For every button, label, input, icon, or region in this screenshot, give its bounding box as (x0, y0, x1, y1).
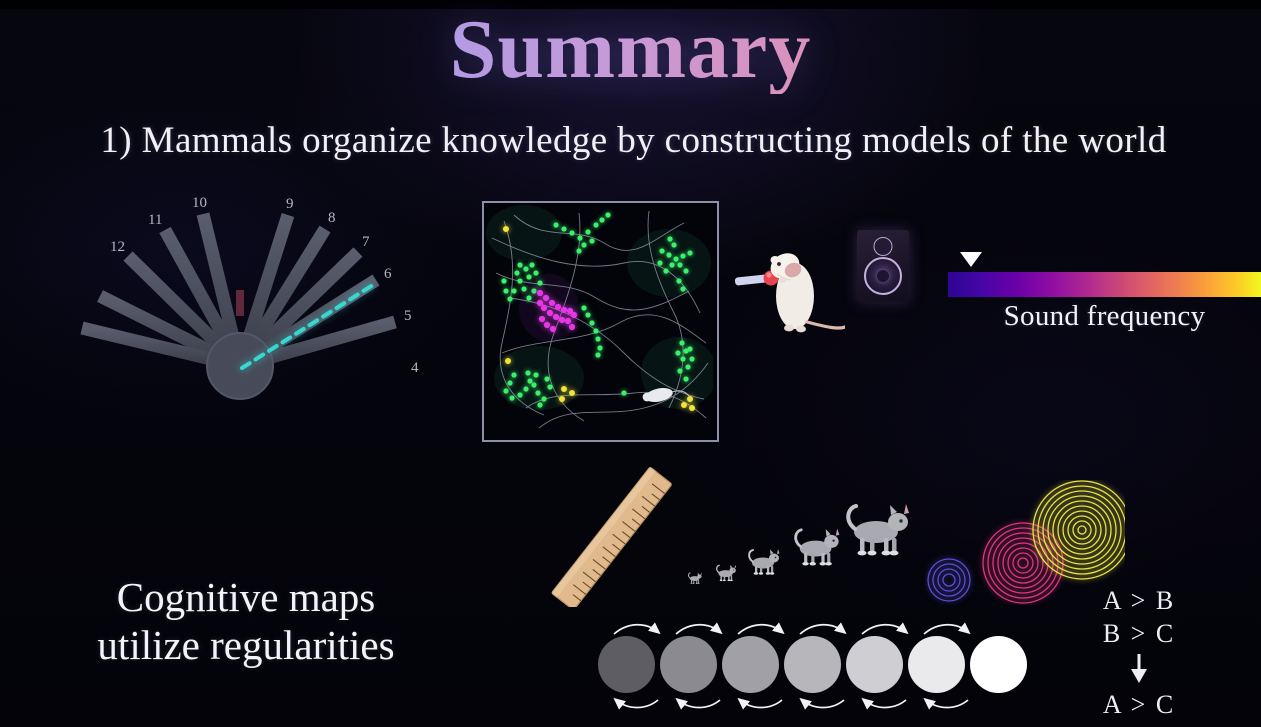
forward-arrows (614, 625, 968, 634)
speaker-icon (857, 230, 909, 302)
premise-2: B > C (1074, 617, 1204, 650)
maze-center-hub (207, 333, 273, 399)
curved-arrow-right-icon (614, 625, 658, 634)
curved-arrow-right-icon (924, 625, 968, 634)
cognitive-maps-caption-line: Cognitive maps (36, 573, 456, 621)
tone-ring-medium (983, 523, 1063, 603)
radial-arm-maze-diagram: 4 5 6 7 8 9 10 11 12 (70, 180, 450, 470)
maze-arm-label-11: 11 (148, 212, 162, 228)
triangle-down-marker[interactable] (960, 252, 982, 267)
maze-arm-label-7: 7 (362, 234, 370, 250)
arrow-down-icon (1074, 651, 1204, 688)
presentation-slide: Summary 1) Mammals organize knowledge by… (0, 0, 1261, 727)
cat-icon-3 (749, 549, 779, 575)
summary-point-1: 1) Mammals organize knowledge by constru… (6, 121, 1261, 162)
maze-arm-label-12: 12 (110, 239, 125, 255)
curved-arrow-right-icon (738, 625, 782, 634)
ruler-icon (533, 467, 693, 607)
cat-icon-2 (717, 565, 736, 581)
maze-arm-label-10: 10 (192, 195, 207, 211)
curved-arrow-left-icon (802, 700, 844, 708)
cat-icon-5 (848, 504, 909, 555)
maze-reward-marker (236, 290, 244, 316)
mouse-behavior-illustration (735, 230, 845, 350)
maze-arm-label-9: 9 (286, 196, 294, 212)
mouse-icon (766, 248, 845, 332)
cognitive-maps-caption-line: utilize regularities (36, 621, 456, 669)
curved-arrow-left-icon (678, 700, 720, 708)
curved-arrow-left-icon (616, 700, 658, 708)
curved-arrow-right-icon (676, 625, 720, 634)
curved-arrow-right-icon (800, 625, 844, 634)
brightness-sequence (598, 620, 1028, 720)
backward-arrows (616, 700, 968, 708)
tone-ring-large (1033, 481, 1125, 579)
speaker-woofer (864, 257, 902, 295)
premise-1: A > B (1074, 584, 1204, 617)
place-cell-arena (482, 201, 719, 442)
sound-frequency-colorbar (948, 272, 1261, 297)
curved-arrow-left-icon (864, 700, 906, 708)
transitive-inference-block: A > B B > C A > C (1074, 584, 1204, 721)
cat-size-gradient (686, 500, 916, 605)
cat-icon-4 (796, 528, 840, 565)
curved-arrow-left-icon (926, 700, 968, 708)
speaker-tweeter (874, 237, 893, 256)
tone-ring-small (928, 559, 970, 601)
conclusion: A > C (1074, 688, 1204, 721)
maze-arm-label-5: 5 (404, 308, 412, 324)
maze-arm-label-4: 4 (411, 360, 419, 376)
cognitive-maps-caption: Cognitive mapsutilize regularities (36, 573, 456, 670)
maze-arm-label-8: 8 (328, 210, 336, 226)
cat-icon-1 (688, 572, 701, 583)
curved-arrow-right-icon (862, 625, 906, 634)
sound-frequency-label: Sound frequency (948, 300, 1261, 333)
page-title: Summary (0, 6, 1261, 94)
maze-arm-label-6: 6 (384, 266, 392, 282)
curved-arrow-left-icon (740, 700, 782, 708)
